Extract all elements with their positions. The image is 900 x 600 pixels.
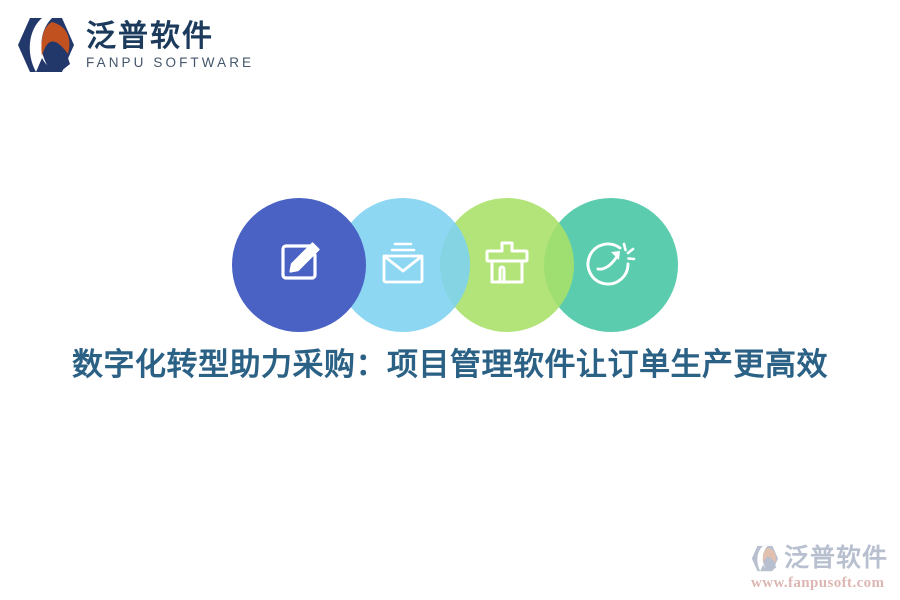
hero-circle-edit[interactable]	[232, 198, 366, 332]
page-root: 泛普软件 FANPU SOFTWARE	[0, 0, 900, 600]
brand-text-block: 泛普软件 FANPU SOFTWARE	[86, 19, 254, 72]
hero-circle-cluster	[232, 198, 678, 332]
edit-document-icon	[273, 237, 325, 294]
brand-logo[interactable]: 泛普软件 FANPU SOFTWARE	[12, 14, 254, 76]
brand-name-en: FANPU SOFTWARE	[86, 52, 254, 71]
watermark-logo-row: 泛普软件	[749, 544, 888, 573]
fanpu-hexagon-logo-icon	[12, 14, 76, 76]
watermark: 泛普软件 www.fanpusoft.com	[749, 544, 888, 592]
store-shop-icon	[481, 238, 533, 293]
watermark-url: www.fanpusoft.com	[751, 575, 884, 592]
growth-arrow-icon	[584, 237, 638, 294]
mail-envelope-icon	[376, 238, 430, 293]
watermark-name: 泛普软件	[784, 546, 888, 571]
page-title: 数字化转型助力采购：项目管理软件让订单生产更高效	[0, 339, 900, 384]
brand-name-cn: 泛普软件	[86, 21, 254, 53]
fanpu-hexagon-logo-icon	[749, 544, 779, 573]
